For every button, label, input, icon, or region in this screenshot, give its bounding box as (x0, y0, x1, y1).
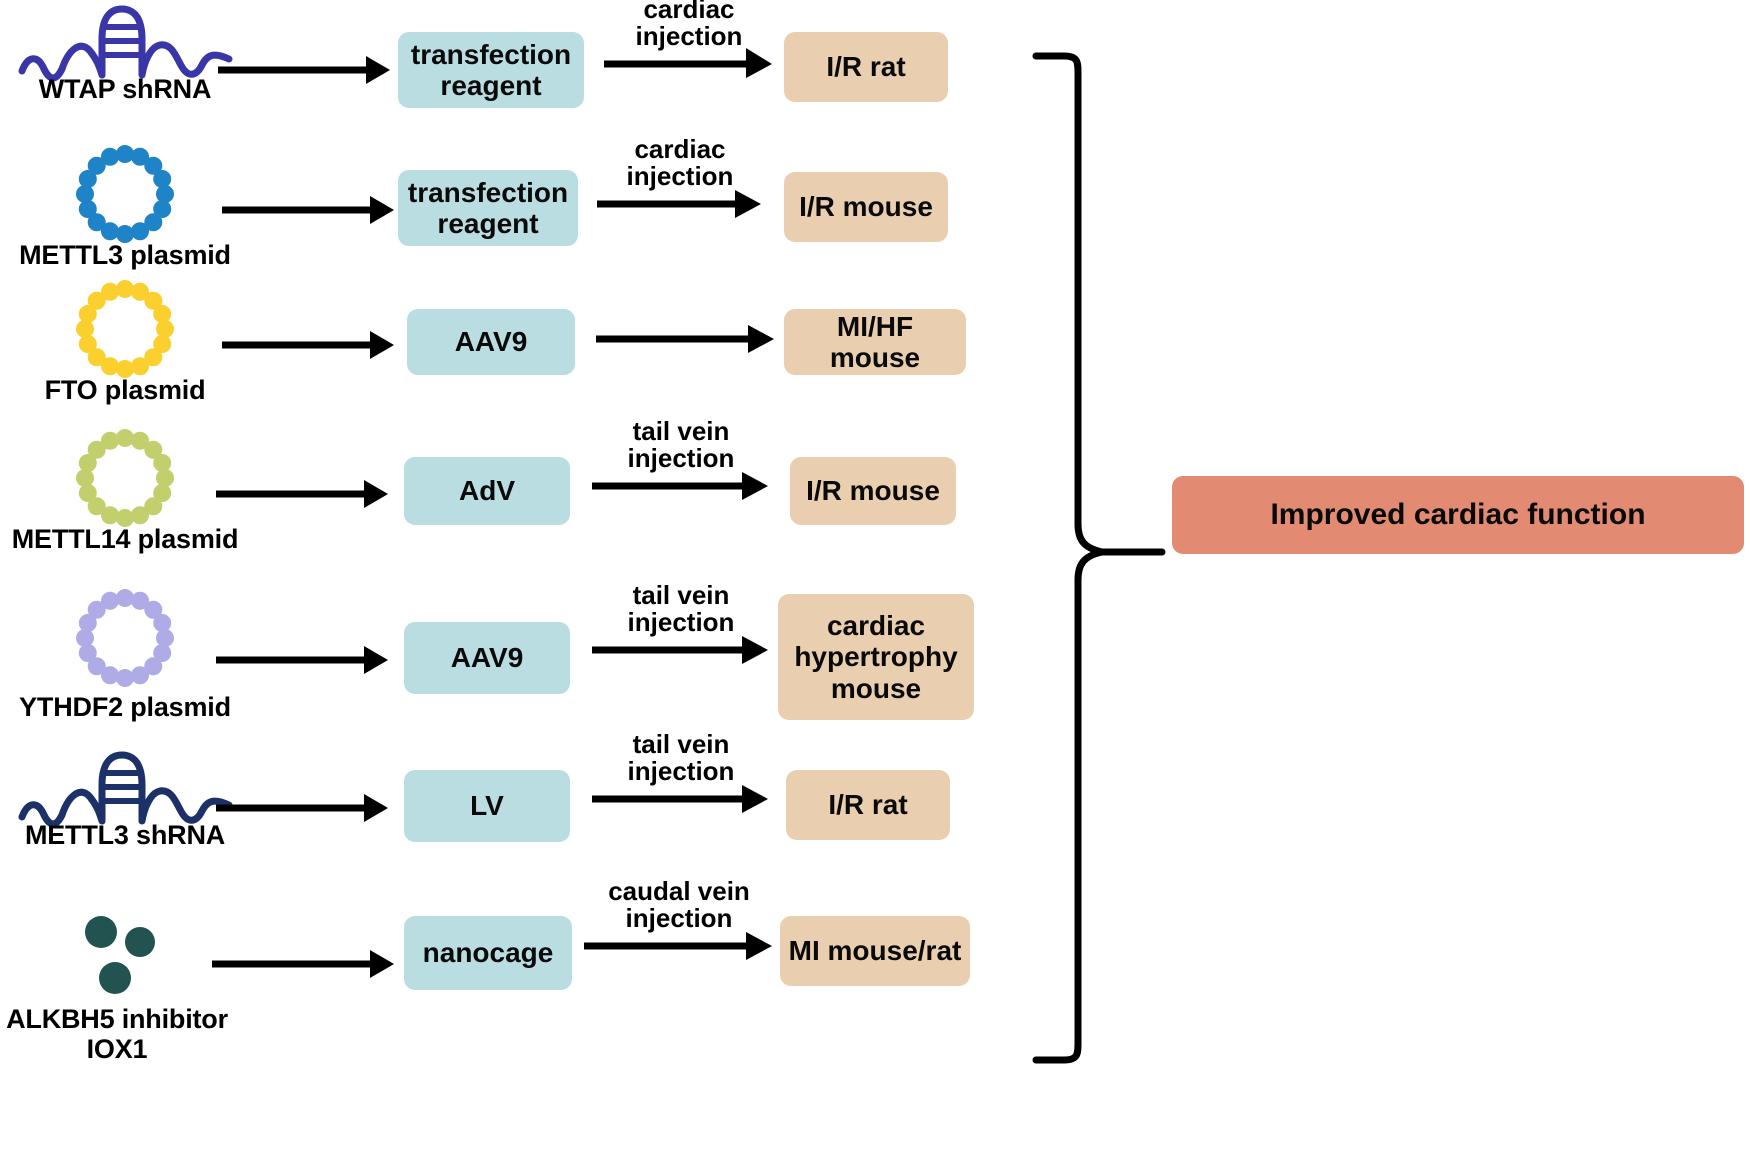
source-mettl3-shrna: METTL3 shRNA (0, 738, 250, 898)
plasmid-circle-icon (0, 424, 250, 532)
model-box: I/R mouse (784, 172, 948, 242)
source-label: METTL3 shRNA (0, 820, 250, 850)
pathway-row: WTAP shRNA transfection reagent cardiac … (0, 0, 1040, 160)
vector-box: AdV (404, 457, 570, 525)
vector-box: AAV9 (407, 309, 575, 375)
source-ythdf2-plasmid: YTHDF2 plasmid (0, 584, 250, 744)
pathway-row: METTL3 shRNA LV tail vein injection I/R … (0, 738, 1040, 898)
pathway-row: METTL14 plasmid AdV tail vein injection … (0, 424, 1040, 584)
source-label: METTL3 plasmid (0, 240, 250, 270)
model-box: I/R mouse (790, 457, 956, 525)
vector-box: transfection reagent (398, 170, 578, 246)
source-label: ALKBH5 inhibitor IOX1 (0, 1004, 252, 1064)
arrow-source-to-vector (216, 618, 391, 678)
source-fto-plasmid: FTO plasmid (0, 275, 250, 435)
source-wtap-shrna: WTAP shRNA (0, 0, 250, 152)
arrow-vector-to-model: tail vein injection (592, 604, 770, 664)
model-box: MI mouse/rat (780, 916, 970, 986)
arrow-vector-to-model: tail vein injection (592, 753, 770, 813)
model-box: MI/HF mouse (784, 309, 966, 375)
model-box: I/R rat (786, 770, 950, 840)
source-label: METTL14 plasmid (0, 524, 250, 554)
outcome-label: Improved cardiac function (1270, 498, 1645, 532)
arrow-vector-to-model (596, 293, 776, 353)
plasmid-circle-icon (0, 584, 250, 692)
pathway-row: FTO plasmid AAV9 MI/HF mouse (0, 275, 1040, 435)
arrow-source-to-vector (222, 303, 397, 363)
pathway-row: ALKBH5 inhibitor IOX1 nanocage caudal ve… (0, 900, 1040, 1140)
plasmid-circle-icon (0, 275, 250, 383)
plasmid-circle-icon (0, 140, 250, 248)
arrow-vector-to-model: cardiac injection (604, 18, 774, 78)
outcome-box: Improved cardiac function (1172, 476, 1744, 554)
pathway-diagram: WTAP shRNA transfection reagent cardiac … (0, 0, 1750, 1172)
vector-box: nanocage (404, 916, 572, 990)
source-label: WTAP shRNA (0, 74, 250, 104)
source-mettl14-plasmid: METTL14 plasmid (0, 424, 250, 584)
source-label: FTO plasmid (0, 375, 250, 405)
source-label: YTHDF2 plasmid (0, 692, 250, 722)
arrow-vector-to-model: caudal vein injection (584, 900, 774, 960)
vector-box: AAV9 (404, 622, 570, 694)
arrow-source-to-vector (212, 922, 397, 982)
vector-box: LV (404, 770, 570, 842)
arrow-source-to-vector (222, 168, 397, 228)
arrow-source-to-vector (216, 766, 391, 826)
vector-box: transfection reagent (398, 32, 584, 108)
arrow-vector-to-model: cardiac injection (597, 158, 763, 218)
convergence-brace (1030, 40, 1170, 1090)
model-box: cardiac hypertrophy mouse (778, 594, 974, 720)
arrow-vector-to-model: tail vein injection (592, 440, 770, 500)
model-box: I/R rat (784, 32, 948, 102)
arrow-source-to-vector (218, 28, 393, 88)
arrow-source-to-vector (216, 452, 391, 512)
